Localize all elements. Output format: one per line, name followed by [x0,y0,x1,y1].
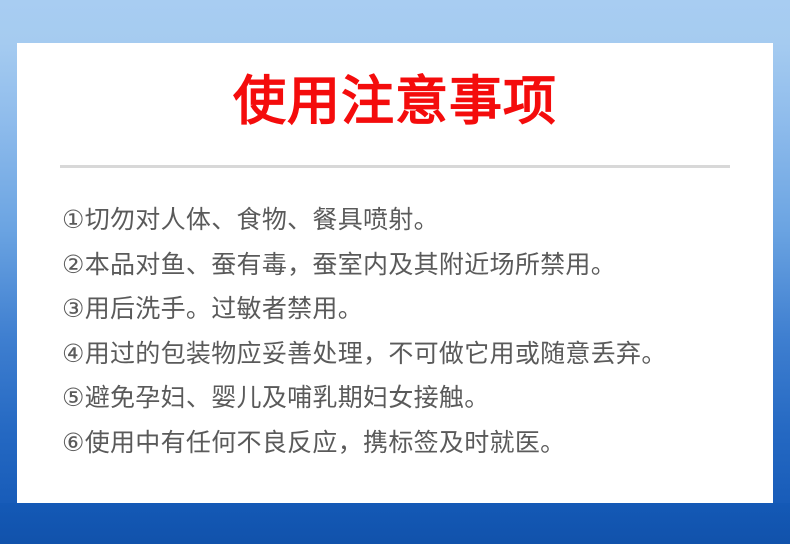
bottom-blue-band-fill [0,503,790,544]
bottom-blue-band [0,503,790,544]
list-item: ②本品对鱼、蚕有毒，蚕室内及其附近场所禁用。 [62,243,762,288]
title-divider [60,165,730,168]
list-item: ④用过的包装物应妥善处理，不可做它用或随意丢弃。 [62,332,762,377]
white-content-card: 使用注意事项 ①切勿对人体、食物、餐具喷射。 ②本品对鱼、蚕有毒，蚕室内及其附近… [17,43,773,503]
list-item: ③用后洗手。过敏者禁用。 [62,287,762,332]
precaution-list: ①切勿对人体、食物、餐具喷射。 ②本品对鱼、蚕有毒，蚕室内及其附近场所禁用。 ③… [62,198,762,465]
page-title: 使用注意事项 [17,71,773,133]
list-item: ⑥使用中有任何不良反应，携标签及时就医。 [62,421,762,466]
list-item: ⑤避免孕妇、婴儿及哺乳期妇女接触。 [62,376,762,421]
product-info-banner: 使用注意事项 ①切勿对人体、食物、餐具喷射。 ②本品对鱼、蚕有毒，蚕室内及其附近… [0,0,790,544]
list-item: ①切勿对人体、食物、餐具喷射。 [62,198,762,243]
